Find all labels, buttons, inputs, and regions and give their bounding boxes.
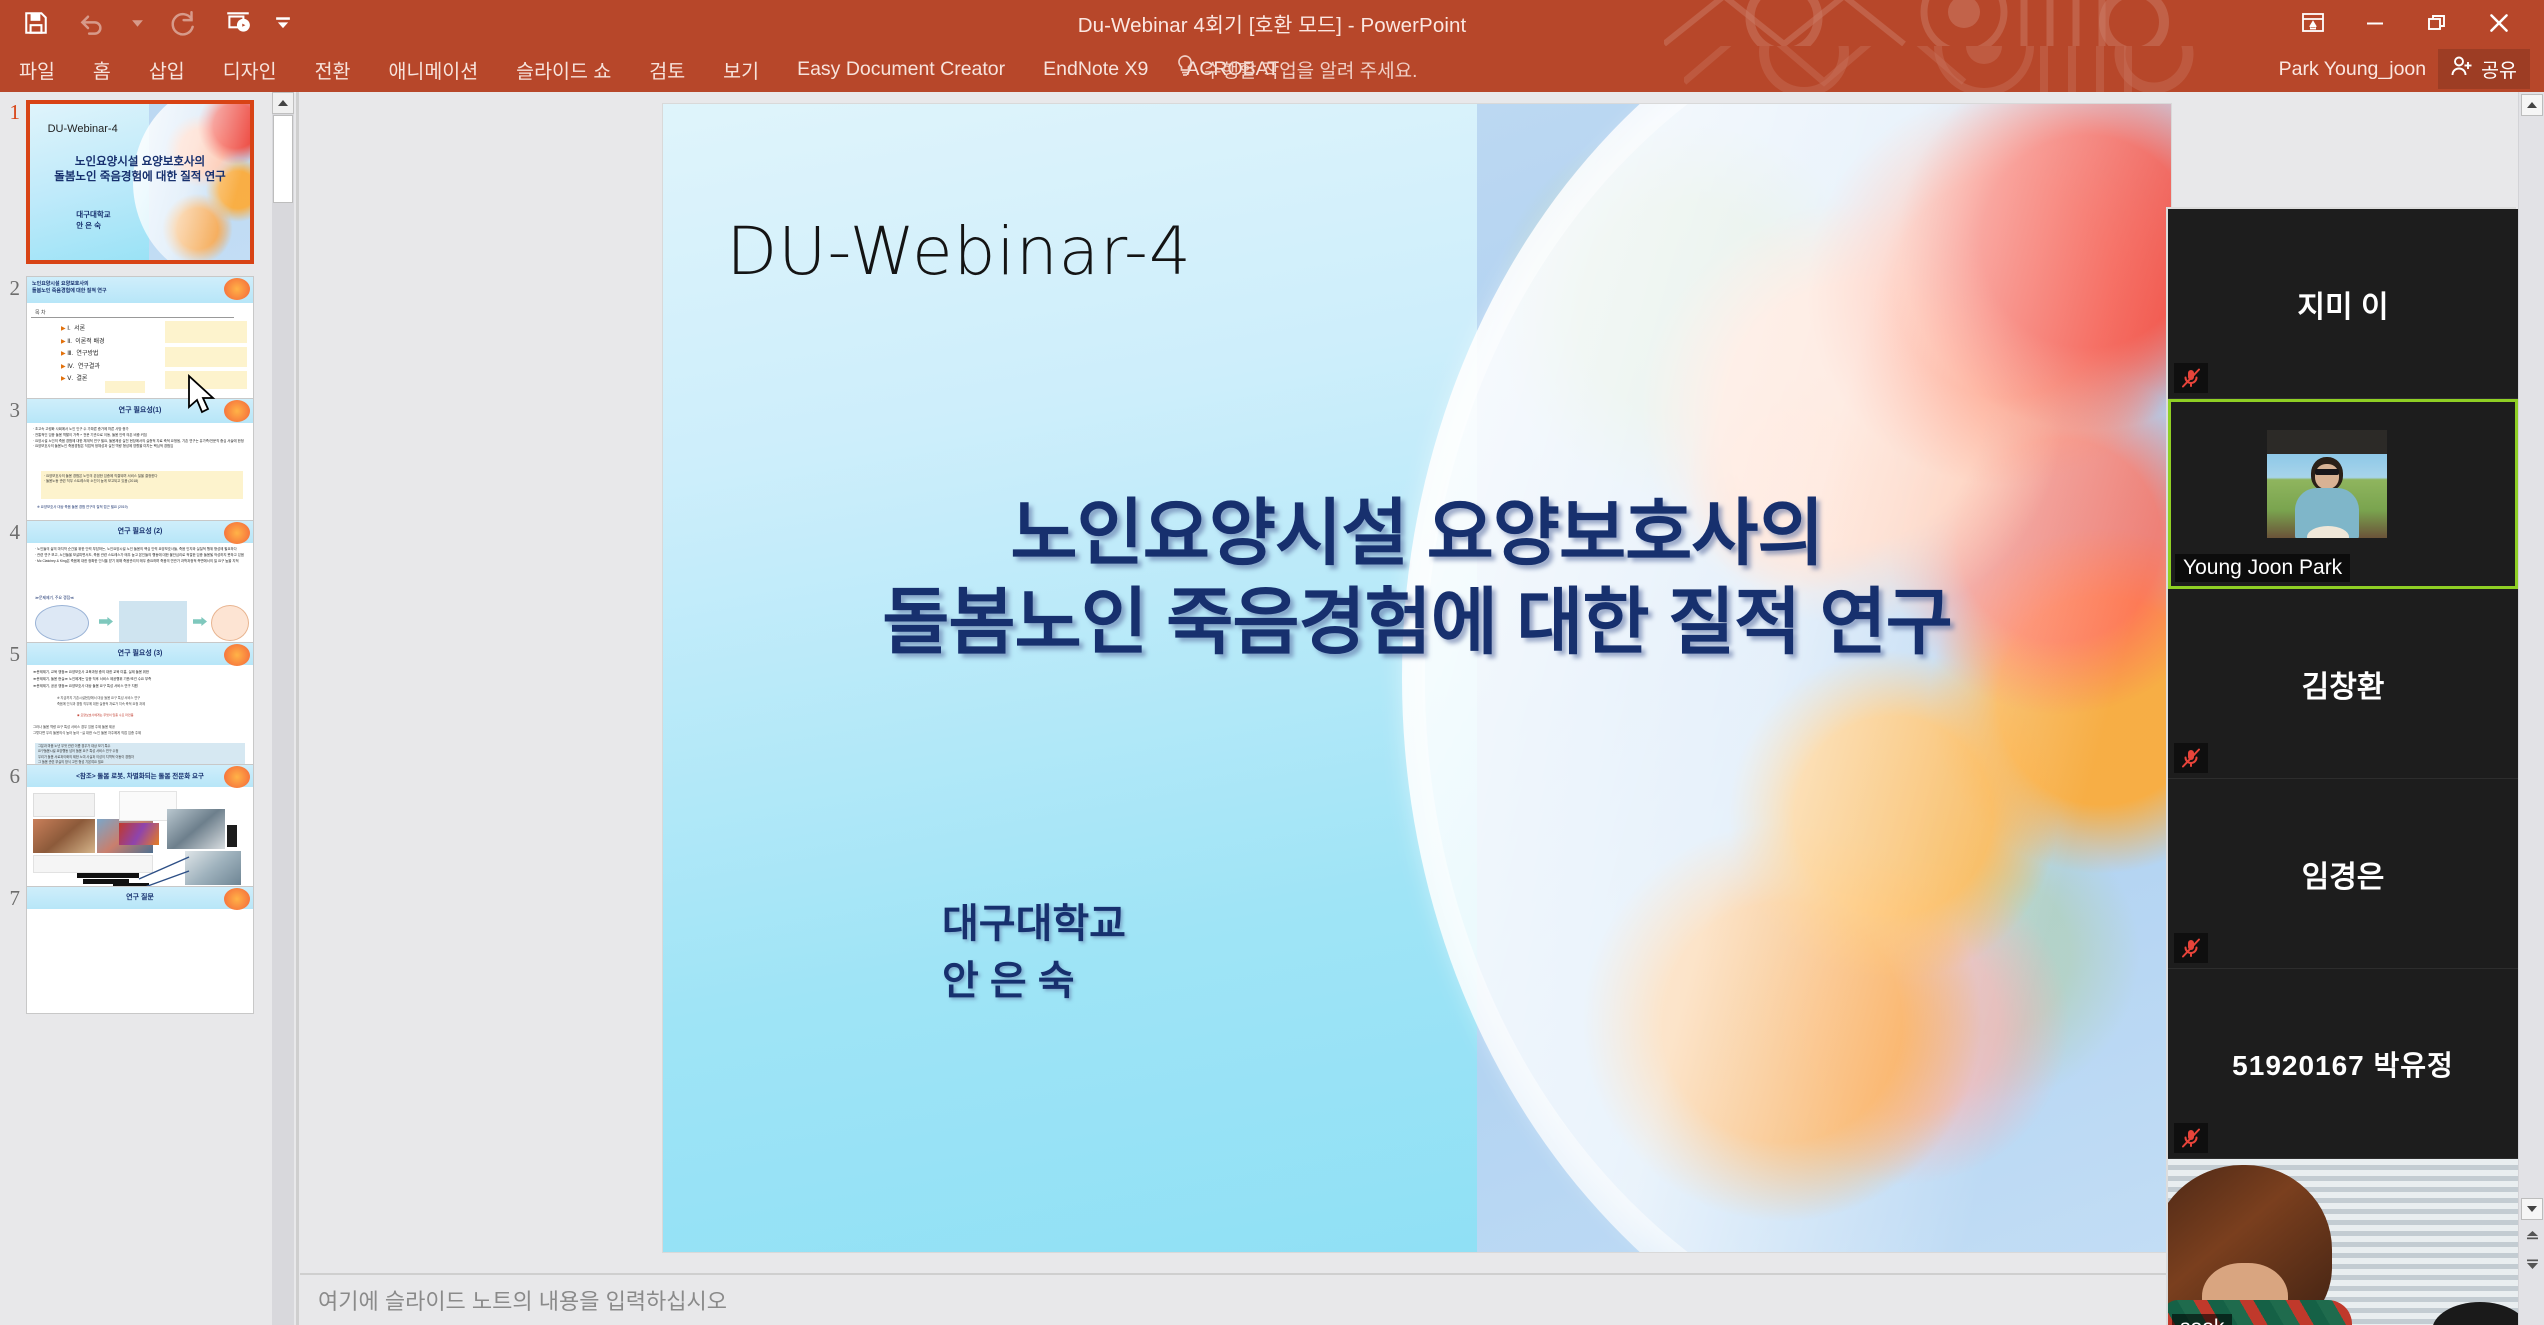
scroll-up-icon[interactable] (2521, 94, 2543, 116)
thumbnail-number-4: 4 (0, 520, 26, 648)
slide-author-university: 대구대학교 (942, 896, 1126, 953)
zoom-tile-participant-1[interactable]: 지미 이 (2168, 209, 2518, 399)
thumbnail-row-1[interactable]: 1 DU-Webinar-4 노인요양시설 요양보호사의돌봄노인 죽음경험에 대… (0, 100, 272, 264)
zoom-participant-name: sook (2172, 1314, 2232, 1325)
thumbnail-row-7[interactable]: 7 연구 질문 (0, 886, 272, 1014)
thumbnail-slide-5[interactable]: 연구 필요성 (3) ≫문제제기, 교육 쟁점≫ 요양보호사 교육과정 중의 대… (26, 642, 254, 770)
start-slideshow-icon[interactable] (210, 2, 266, 44)
tab-transitions[interactable]: 전환 (296, 46, 370, 92)
tab-endnote-x9[interactable]: EndNote X9 (1024, 46, 1167, 92)
next-slide-icon[interactable] (2521, 1254, 2543, 1274)
workspace: 1 DU-Webinar-4 노인요양시설 요양보호사의돌봄노인 죽음경험에 대… (0, 92, 2544, 1325)
window-controls (2282, 0, 2530, 46)
slide-author-name: 안 은 숙 (942, 953, 1126, 1010)
tab-review[interactable]: 검토 (630, 46, 704, 92)
slide-webinar-label: DU-Webinar-4 (726, 213, 1192, 290)
current-slide[interactable]: DU-Webinar-4 노인요양시설 요양보호사의 돌봄노인 죽음경험에 대한… (662, 103, 2172, 1253)
zoom-tile-participant-6[interactable]: sook (2168, 1159, 2518, 1325)
tab-view[interactable]: 보기 (704, 46, 778, 92)
undo-icon[interactable] (64, 2, 120, 44)
zoom-participant-name: Young Joon Park (2175, 554, 2350, 582)
slide-title: 노인요양시설 요양보호사의 돌봄노인 죽음경험에 대한 질적 연구 (663, 489, 2171, 667)
muted-microphone-icon (2174, 743, 2208, 773)
thumbnail-row-3[interactable]: 3 연구 필요성(1) ‧ 초고속 고령화 사회에서 노인 인구 수 가파른 증… (0, 398, 272, 526)
ribbon-decoration (1684, 46, 2304, 92)
tab-file[interactable]: 파일 (0, 46, 74, 92)
quick-access-toolbar (8, 0, 300, 46)
avatar (2267, 430, 2387, 538)
share-person-icon (2449, 55, 2473, 83)
thumbnail-slide-4[interactable]: 연구 필요성 (2) ‧ 노인들의 삶의 마지막 순간을 위한 인력 부담하는,… (26, 520, 254, 648)
zoom-tile-participant-5[interactable]: 51920167 박유정 (2168, 969, 2518, 1159)
thumbnail-slide-6[interactable]: <참조> 돌봄 로봇, 차별화되는 돌봄 전문화 요구 (26, 764, 254, 892)
thumbnail-number-7: 7 (0, 886, 26, 1014)
tab-design[interactable]: 디자인 (204, 46, 296, 92)
zoom-participant-video (2168, 1159, 2518, 1325)
thumbnail-slide-3[interactable]: 연구 필요성(1) ‧ 초고속 고령화 사회에서 노인 인구 수 가파른 증가에… (26, 398, 254, 526)
previous-slide-icon[interactable] (2521, 1226, 2543, 1246)
zoom-tile-participant-4[interactable]: 임경은 (2168, 779, 2518, 969)
ribbon-tab-bar: 파일 홈 삽입 디자인 전환 애니메이션 슬라이드 쇼 검토 보기 Easy D… (0, 46, 2544, 92)
tell-me-box[interactable]: 수행할 작업을 알려 주세요. (1175, 46, 1417, 92)
thumbnail-row-2[interactable]: 2 노인요양시설 요양보호사의돌봄노인 죽음경험에 대한 질적 연구 목 차 ▶… (0, 276, 272, 404)
thumbnail-number-2: 2 (0, 276, 26, 404)
muted-microphone-icon (2174, 1123, 2208, 1153)
zoom-participant-panel[interactable]: 지미 이 Young Joon Park 김창환 (2166, 207, 2516, 1325)
webcam-image (2168, 1159, 2518, 1325)
thumbnail-number-3: 3 (0, 398, 26, 526)
zoom-tile-participant-3[interactable]: 김창환 (2168, 589, 2518, 779)
ribbon-display-options-icon[interactable] (2282, 0, 2344, 46)
scroll-up-icon[interactable] (272, 92, 294, 114)
tab-insert[interactable]: 삽입 (130, 46, 204, 92)
tab-easy-document-creator[interactable]: Easy Document Creator (778, 46, 1024, 92)
slide-title-line2: 돌봄노인 죽음경험에 대한 질적 연구 (663, 578, 2171, 667)
scroll-down-icon[interactable] (2521, 1198, 2543, 1220)
tab-slideshow[interactable]: 슬라이드 쇼 (497, 46, 630, 92)
close-icon[interactable] (2468, 0, 2530, 46)
thumbnail-number-6: 6 (0, 764, 26, 892)
thumbnail-scroll-thumb[interactable] (273, 115, 293, 203)
slide-background-flowers (1477, 104, 2171, 1252)
minimize-icon[interactable] (2344, 0, 2406, 46)
muted-microphone-icon (2174, 933, 2208, 963)
account-area: Park Young_joon 공유 (2279, 46, 2530, 92)
save-icon[interactable] (8, 2, 64, 44)
zoom-participant-name: 51920167 박유정 (2168, 969, 2518, 1158)
redo-icon[interactable] (154, 2, 210, 44)
zoom-participant-name: 임경은 (2168, 779, 2518, 968)
thumbnail-slide-2[interactable]: 노인요양시설 요양보호사의돌봄노인 죽음경험에 대한 질적 연구 목 차 ▶ Ⅰ… (26, 276, 254, 404)
slide-author-block: 대구대학교 안 은 숙 (942, 896, 1126, 1010)
thumbnail-slide-7[interactable]: 연구 질문 (26, 886, 254, 1014)
thumbnail-scrollbar[interactable] (272, 92, 294, 1325)
zoom-participant-name: 지미 이 (2168, 209, 2518, 398)
customize-qat-icon[interactable] (266, 2, 300, 44)
lightbulb-icon (1175, 54, 1195, 84)
thumbnail-row-6[interactable]: 6 <참조> 돌봄 로봇, 차별화되는 돌봄 전문화 요구 (0, 764, 272, 892)
slide-title-line1: 노인요양시설 요양보호사의 (1010, 493, 1823, 574)
slide-scrollbar[interactable] (2518, 92, 2544, 1325)
notes-placeholder[interactable]: 여기에 슬라이드 노트의 내용을 입력하십시오 (318, 1284, 727, 1316)
share-label: 공유 (2481, 54, 2517, 83)
ribbon-tabs: 파일 홈 삽입 디자인 전환 애니메이션 슬라이드 쇼 검토 보기 Easy D… (0, 46, 1298, 92)
thumbnail-row-5[interactable]: 5 연구 필요성 (3) ≫문제제기, 교육 쟁점≫ 요양보호사 교육과정 중의… (0, 642, 272, 770)
zoom-tile-participant-2[interactable]: Young Joon Park (2168, 399, 2518, 589)
thumbnail-row-4[interactable]: 4 연구 필요성 (2) ‧ 노인들의 삶의 마지막 순간을 위한 인력 부담하… (0, 520, 272, 648)
thumbnail-number-5: 5 (0, 642, 26, 770)
zoom-participant-name: 김창환 (2168, 589, 2518, 778)
undo-dropdown-icon[interactable] (120, 2, 154, 44)
tell-me-text: 수행할 작업을 알려 주세요. (1204, 56, 1417, 83)
title-bar: Du-Webinar 4회기 [호환 모드] - PowerPoint (0, 0, 2544, 46)
slide-thumbnail-pane[interactable]: 1 DU-Webinar-4 노인요양시설 요양보호사의돌봄노인 죽음경험에 대… (0, 92, 272, 1325)
account-name[interactable]: Park Young_joon (2279, 58, 2426, 81)
tab-animations[interactable]: 애니메이션 (369, 46, 497, 92)
restore-icon[interactable] (2406, 0, 2468, 46)
thumbnail-number-1: 1 (0, 100, 26, 264)
tab-home[interactable]: 홈 (74, 46, 130, 92)
window-title: Du-Webinar 4회기 [호환 모드] - PowerPoint (0, 0, 2544, 46)
thumbnail-slide-1[interactable]: DU-Webinar-4 노인요양시설 요양보호사의돌봄노인 죽음경험에 대한 … (26, 100, 254, 264)
muted-microphone-icon (2174, 363, 2208, 393)
share-button[interactable]: 공유 (2438, 49, 2530, 89)
pane-divider[interactable] (296, 92, 299, 1325)
